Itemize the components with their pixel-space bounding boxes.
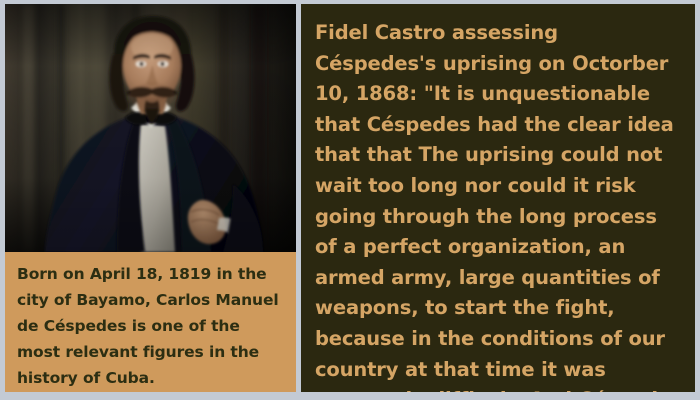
portrait-illustration <box>5 4 296 252</box>
portrait-image <box>5 4 296 252</box>
quote-panel: Fidel Castro assessing Céspedes's uprisi… <box>301 4 695 392</box>
caption-text: Born on April 18, 1819 in the city of Ba… <box>17 261 284 391</box>
left-column: Born on April 18, 1819 in the city of Ba… <box>5 4 296 392</box>
slide-canvas: Born on April 18, 1819 in the city of Ba… <box>0 0 700 400</box>
quote-text: Fidel Castro assessing Céspedes's uprisi… <box>315 18 683 392</box>
caption-panel: Born on April 18, 1819 in the city of Ba… <box>5 252 296 392</box>
